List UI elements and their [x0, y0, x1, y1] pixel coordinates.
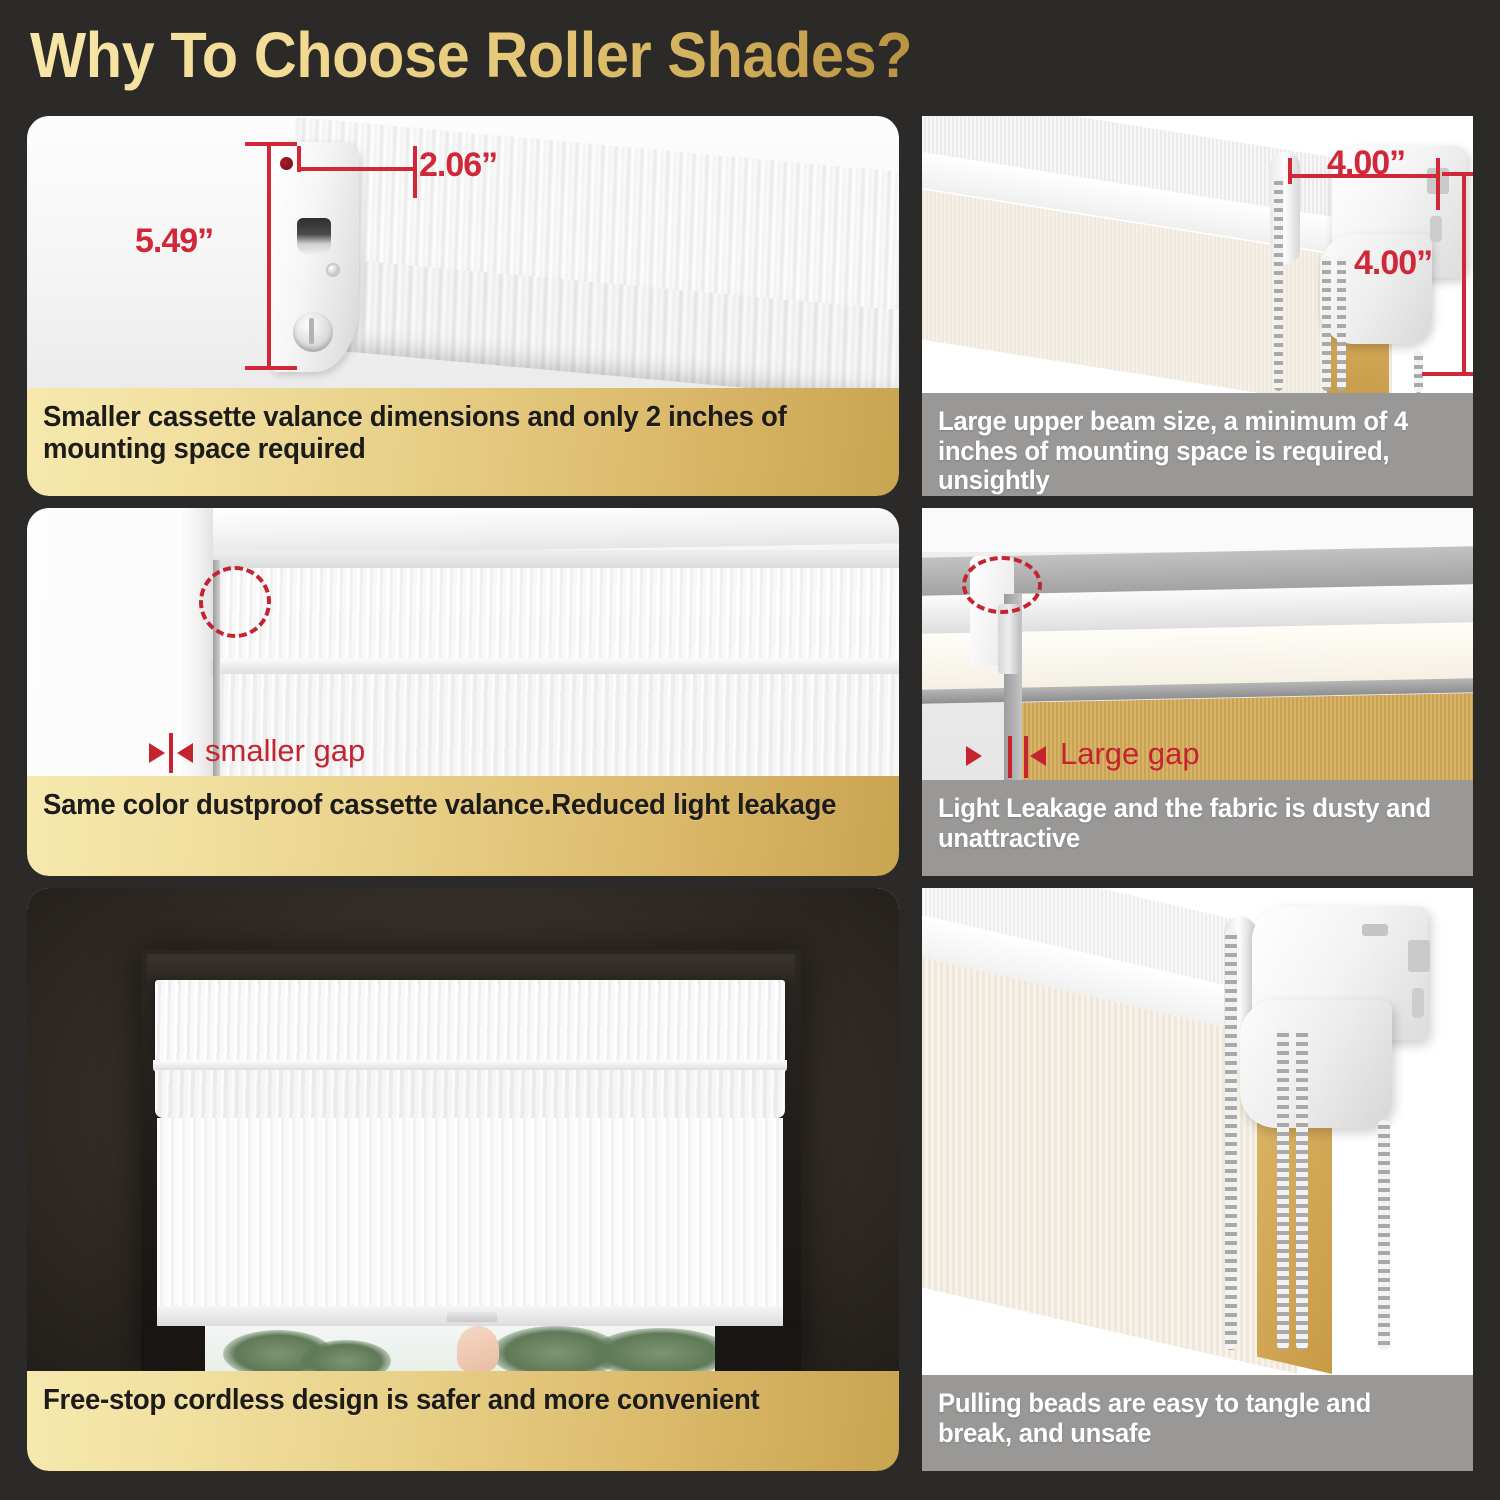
bracket-slot-icon [1430, 216, 1442, 242]
height-dimension-label: 4.00” [1354, 244, 1432, 283]
bottom-rail-tab [447, 1312, 497, 1322]
height-dimension-label: 5.49” [135, 222, 213, 261]
width-dimension-line [299, 167, 417, 171]
bead-chain [1322, 256, 1331, 391]
highlight-circle-icon [199, 566, 271, 638]
panel-2-caption: Large upper beam size, a minimum of 4 in… [922, 393, 1473, 496]
screw-icon [326, 263, 340, 277]
bead-chain [1274, 176, 1283, 391]
bead-chain [1296, 1028, 1308, 1350]
panel-5-cordless-design: Free-stop cordless design is safer and m… [27, 888, 899, 1471]
gap-arrow-left-icon [966, 746, 982, 766]
panel-1-photo: 2.06” 5.49” [27, 116, 899, 388]
panel-3-caption-text: Same color dustproof cassette valance.Re… [43, 790, 836, 822]
gap-label: smaller gap [205, 733, 365, 769]
panel-6-caption-text: Pulling beads are easy to tangle and bre… [938, 1389, 1431, 1448]
height-dimension-tick-bottom [245, 366, 297, 370]
bracket-notch-icon [1362, 924, 1388, 936]
panel-6-photo [922, 888, 1473, 1375]
panel-1-smaller-cassette: 2.06” 5.49” Smaller cassette valance dim… [27, 116, 899, 496]
mounting-bracket-lower [1240, 1000, 1392, 1128]
bead-chain [1378, 1120, 1390, 1350]
panel-2-caption-text: Large upper beam size, a minimum of 4 in… [938, 407, 1431, 496]
bracket-clip [998, 604, 1020, 674]
bead-chain [1277, 1028, 1289, 1350]
gap-arrow-right-icon [177, 743, 193, 763]
window-jamb-right [715, 1326, 799, 1371]
panel-5-caption: Free-stop cordless design is safer and m… [27, 1371, 899, 1471]
ceiling-band [922, 508, 1473, 552]
gap-measure-bar [1024, 736, 1028, 778]
height-dimension-tick-top [1442, 172, 1473, 176]
gap-measure-bar [169, 733, 173, 773]
roller-wheel [293, 312, 333, 352]
gap-arrow-left-icon [149, 743, 165, 763]
panel-4-caption: Light Leakage and the fabric is dusty an… [922, 780, 1473, 876]
shade-fabric [157, 1118, 783, 1322]
panel-3-caption: Same color dustproof cassette valance.Re… [27, 776, 899, 876]
end-cap-slot [297, 218, 331, 254]
height-dimension-line [267, 142, 271, 370]
width-dimension-tick-right [413, 146, 417, 198]
width-dimension-label: 2.06” [419, 146, 497, 185]
red-screw-icon [280, 157, 293, 170]
width-dimension-tick-left [1288, 158, 1292, 184]
panel-1-caption: Smaller cassette valance dimensions and … [27, 388, 899, 496]
height-dimension-tick-bottom [1422, 372, 1473, 376]
valance-lip [213, 658, 899, 674]
gap-measure-bar [1008, 736, 1012, 778]
tree-foliage [591, 1328, 715, 1371]
tree-foliage [301, 1340, 391, 1371]
panel-4-photo: Large gap [922, 508, 1473, 780]
panel-5-caption-text: Free-stop cordless design is safer and m… [43, 1385, 759, 1417]
panel-1-caption-text: Smaller cassette valance dimensions and … [43, 402, 841, 466]
gap-arrow-right-icon [1030, 746, 1046, 766]
bracket-slot-icon [1412, 988, 1424, 1018]
width-dimension-tick-right [1436, 158, 1440, 210]
panel-2-large-beam: 4.00” 4.00” Large upper beam size, a min… [922, 116, 1473, 496]
valance-lower-band [155, 1070, 785, 1118]
highlight-circle-icon [962, 556, 1042, 614]
bracket-notch-icon [1408, 940, 1430, 972]
panel-2-photo: 4.00” 4.00” [922, 116, 1473, 393]
panel-4-large-gap: Large gap Light Leakage and the fabric i… [922, 508, 1473, 876]
bead-chain [1337, 256, 1346, 391]
panel-6-pulling-beads: Pulling beads are easy to tangle and bre… [922, 888, 1473, 1471]
gap-label: Large gap [1060, 736, 1200, 772]
comparison-grid: 2.06” 5.49” Smaller cassette valance dim… [0, 0, 1500, 1500]
height-dimension-tick-top [245, 142, 297, 146]
hand-pulling-shade [457, 1326, 499, 1371]
panel-5-photo [27, 888, 899, 1371]
height-dimension-line [1462, 172, 1466, 376]
width-dimension-tick-left [297, 146, 301, 172]
window-jamb-left [145, 1326, 205, 1371]
cassette-valance [155, 980, 785, 1062]
panel-6-caption: Pulling beads are easy to tangle and bre… [922, 1375, 1473, 1471]
shade-fabric-upper [217, 568, 899, 664]
panel-3-photo: smaller gap [27, 508, 899, 776]
panel-4-caption-text: Light Leakage and the fabric is dusty an… [938, 794, 1431, 853]
bead-chain [1225, 930, 1237, 1350]
panel-3-smaller-gap: smaller gap Same color dustproof cassett… [27, 508, 899, 876]
width-dimension-label: 4.00” [1327, 144, 1405, 183]
